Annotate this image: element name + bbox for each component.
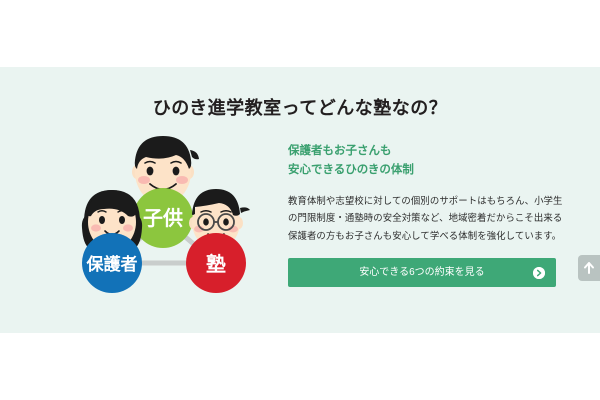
node-school-label: 塾 xyxy=(206,252,226,276)
lead-heading-line1: 保護者もお子さんも xyxy=(288,145,392,157)
school-character: 塾 xyxy=(186,189,250,293)
page-title: ひのき進学教室ってどんな塾なの？ xyxy=(0,94,600,120)
three-party-support-diagram: 子供 xyxy=(44,130,282,315)
section-about: ひのき進学教室ってどんな塾なの？ xyxy=(0,67,600,333)
lead-heading-line2: 安心できるひのきの体制 xyxy=(288,161,570,180)
section-content: 子供 xyxy=(0,130,600,330)
child-character: 子供 xyxy=(132,136,199,248)
parent-character: 保護者 xyxy=(82,190,142,293)
text-column: 保護者もお子さんも 安心できるひのきの体制 教育体制や志望校に対しての個別のサポ… xyxy=(288,142,570,287)
lead-heading: 保護者もお子さんも 安心できるひのきの体制 xyxy=(288,142,570,180)
body-paragraph: 教育体制や志望校に対しての個別のサポートはもちろん、小学生の門限制度・通塾時の安… xyxy=(288,192,570,244)
page-root: ひのき進学教室ってどんな塾なの？ xyxy=(0,0,600,400)
scroll-to-top-button[interactable] xyxy=(578,255,600,281)
arrow-up-icon xyxy=(578,255,600,281)
view-six-promises-button[interactable]: 安心できる6つの約束を見る xyxy=(288,258,556,287)
circle-arrow-right-icon xyxy=(533,267,545,279)
node-parent-label: 保護者 xyxy=(86,254,138,274)
cta-label: 安心できる6つの約束を見る xyxy=(288,258,556,287)
node-child-label: 子供 xyxy=(143,206,183,230)
